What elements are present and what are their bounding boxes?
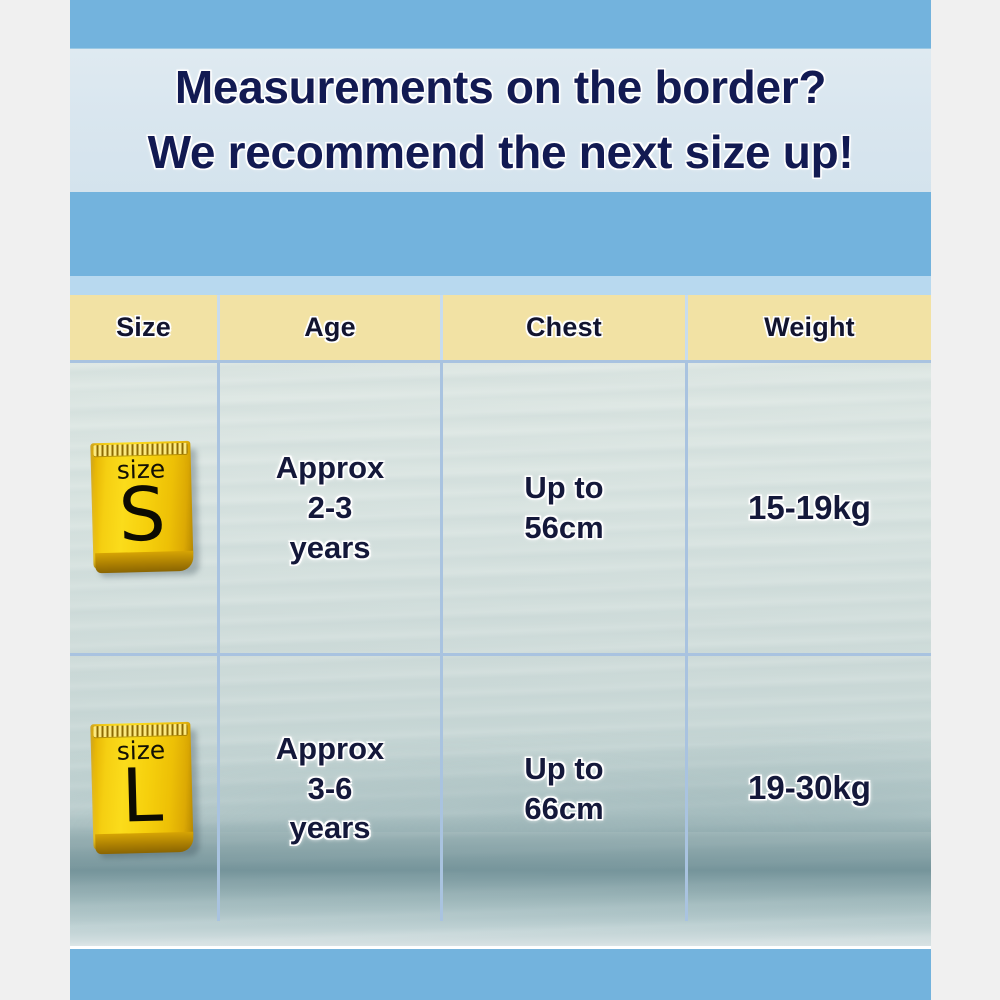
header-cell-size: Size: [70, 295, 220, 360]
cell-text-chest-l: Up to 66cm: [524, 749, 603, 828]
size-tag-letter: S: [91, 477, 193, 554]
header-underline-band: [70, 276, 931, 295]
cell-weight-l: 19-30kg: [688, 653, 931, 921]
size-tag-l-icon: size L: [90, 721, 197, 856]
cell-chest-s: Up to 56cm: [443, 360, 688, 653]
cell-chest-l: Up to 66cm: [443, 653, 688, 921]
header-label-age: Age: [304, 312, 356, 343]
cell-size-s: size S: [70, 360, 220, 653]
cell-text-weight-l: 19-30kg: [748, 767, 871, 809]
table-row: size L Approx 3-6 years Up to 66cm 19-30…: [70, 653, 931, 921]
cell-age-s: Approx 2-3 years: [220, 360, 443, 653]
size-tag-s-icon: size S: [90, 441, 197, 576]
header-label-size: Size: [116, 312, 171, 343]
size-tag-body: size L: [90, 721, 193, 850]
header-cell-age: Age: [220, 295, 443, 360]
size-tag-spiral-binding-icon: [93, 723, 187, 736]
header-label-weight: Weight: [764, 312, 855, 343]
top-blue-band: [70, 0, 931, 48]
bottom-blue-band: [70, 946, 931, 1000]
size-chart-poster: Measurements on the border? We recommend…: [0, 0, 1000, 1000]
cell-weight-s: 15-19kg: [688, 360, 931, 653]
cell-age-l: Approx 3-6 years: [220, 653, 443, 921]
cell-text-age-s: Approx 2-3 years: [276, 448, 385, 567]
cell-text-age-l: Approx 3-6 years: [276, 729, 385, 848]
title-line-2: We recommend the next size up!: [148, 120, 854, 185]
header-label-chest: Chest: [526, 312, 602, 343]
size-tag-body: size S: [90, 441, 193, 570]
cell-size-l: size L: [70, 653, 220, 921]
middle-blue-band: [70, 192, 931, 276]
size-table: Size Age Chest Weight: [70, 295, 931, 921]
poster-content: Measurements on the border? We recommend…: [70, 0, 931, 1000]
cell-text-weight-s: 15-19kg: [748, 487, 871, 529]
header-cell-chest: Chest: [443, 295, 688, 360]
title-line-1: Measurements on the border?: [175, 55, 826, 120]
cell-text-chest-s: Up to 56cm: [524, 468, 603, 547]
poster-title: Measurements on the border? We recommend…: [70, 48, 931, 192]
table-row: size S Approx 2-3 years Up to 56cm 15-19…: [70, 360, 931, 653]
table-header-row: Size Age Chest Weight: [70, 295, 931, 360]
header-cell-weight: Weight: [688, 295, 931, 360]
size-tag-letter: L: [91, 757, 193, 834]
